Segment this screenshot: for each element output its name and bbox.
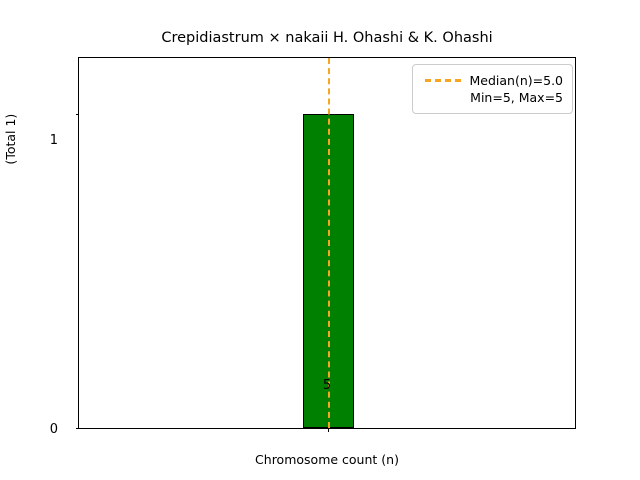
chart-title: Crepidiastrum × nakaii H. Ohashi & K. Oh… (78, 30, 576, 46)
chart-figure: Crepidiastrum × nakaii H. Ohashi & K. Oh… (0, 0, 640, 480)
xtick-label-5: 5 (287, 378, 367, 393)
plot-area: Median(n)=5.0 Min=5, Max=5 (78, 57, 576, 429)
legend-entry-minmax: Min=5, Max=5 (422, 89, 563, 106)
legend: Median(n)=5.0 Min=5, Max=5 (412, 64, 573, 114)
ytick-label-1: 1 (50, 133, 58, 148)
ytick-label-0: 0 (50, 422, 58, 437)
legend-entry-median: Median(n)=5.0 (422, 72, 563, 89)
legend-label-minmax: Min=5, Max=5 (470, 90, 563, 105)
y-axis-label-line2: (Total 1) (2, 0, 20, 299)
xtick-mark-5 (328, 428, 329, 432)
y-axis-label: Num of counts (Total 1) (0, 0, 20, 299)
ytick-mark-0 (76, 428, 80, 429)
legend-dash-icon (425, 79, 461, 82)
ytick-mark-1 (76, 114, 80, 115)
legend-blank-icon (425, 96, 461, 99)
legend-label-median: Median(n)=5.0 (470, 73, 564, 88)
median-line (328, 58, 330, 428)
x-axis-label: Chromosome count (n) (78, 452, 576, 467)
